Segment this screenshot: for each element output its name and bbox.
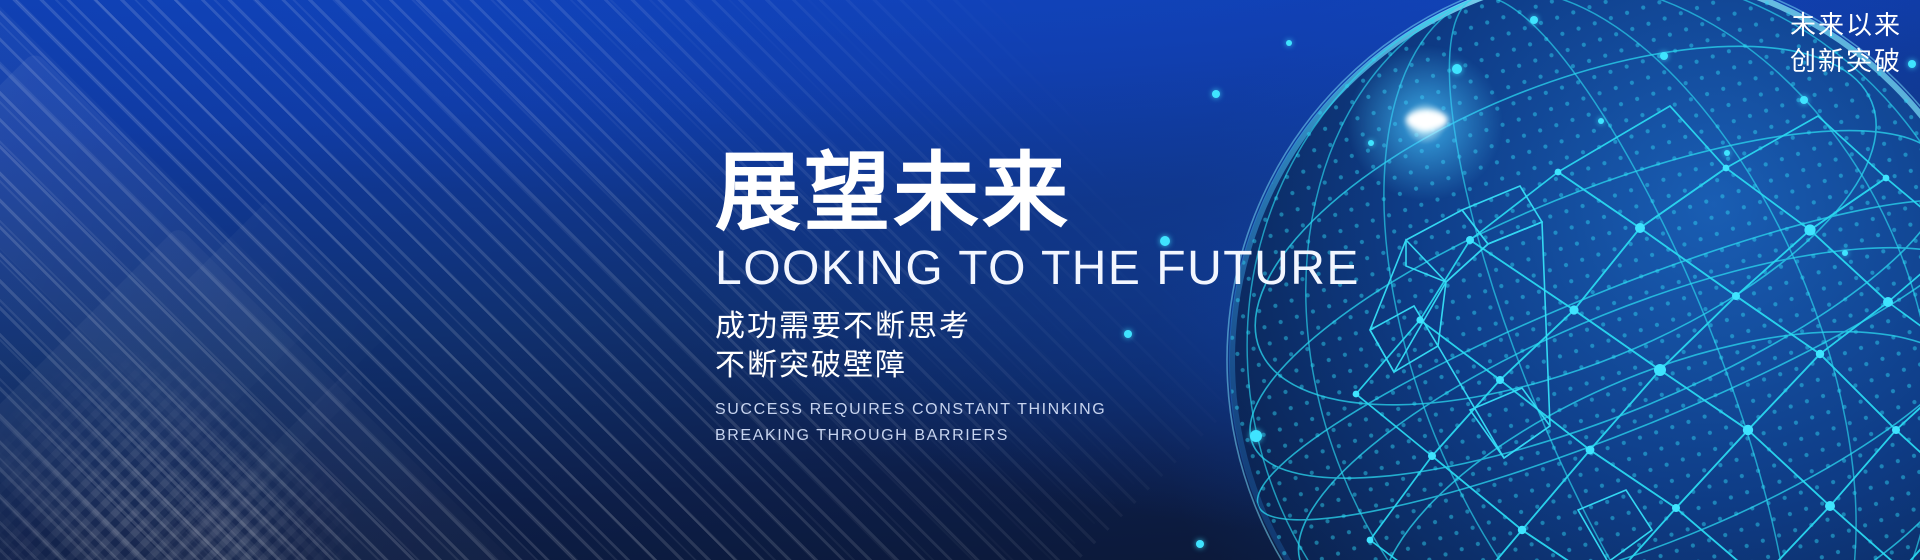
sparkle-dot <box>1196 540 1204 548</box>
sparkle-dot <box>1842 250 1848 256</box>
sparkle-dot <box>1530 16 1538 24</box>
sparkle-dot <box>1908 60 1916 68</box>
sparkle-dot <box>1286 40 1292 46</box>
corner-tag: 未来以来 创新突破 <box>1790 8 1902 80</box>
tagline-cn: 成功需要不断思考 不断突破壁障 <box>715 308 1335 385</box>
tagline-en-line2: BREAKING THROUGH BARRIERS <box>715 423 1335 449</box>
tagline-cn-line1: 成功需要不断思考 <box>715 308 1335 346</box>
sparkle-dot <box>1212 90 1220 98</box>
sparkle-dot <box>1724 150 1730 156</box>
tagline-cn-line2: 不断突破壁障 <box>715 347 1335 385</box>
headline-block: 展望未来 LOOKING TO THE FUTURE 成功需要不断思考 不断突破… <box>715 150 1335 449</box>
page-subtitle-en: LOOKING TO THE FUTURE <box>715 244 1335 294</box>
sparkle-dot <box>1598 118 1604 124</box>
corner-tag-line1: 未来以来 <box>1790 8 1902 44</box>
sparkle-dot <box>1800 96 1808 104</box>
page-title: 展望未来 <box>715 150 1335 236</box>
corner-tag-line2: 创新突破 <box>1790 44 1902 80</box>
tagline-en-line1: SUCCESS REQUIRES CONSTANT THINKING <box>715 397 1335 423</box>
sparkle-dot <box>1368 140 1374 146</box>
promo-banner: 未来以来 创新突破 展望未来 LOOKING TO THE FUTURE 成功需… <box>0 0 1920 560</box>
sparkle-dot <box>1660 52 1668 60</box>
sparkle-dot <box>1452 64 1462 74</box>
tagline-en: SUCCESS REQUIRES CONSTANT THINKING BREAK… <box>715 397 1335 449</box>
